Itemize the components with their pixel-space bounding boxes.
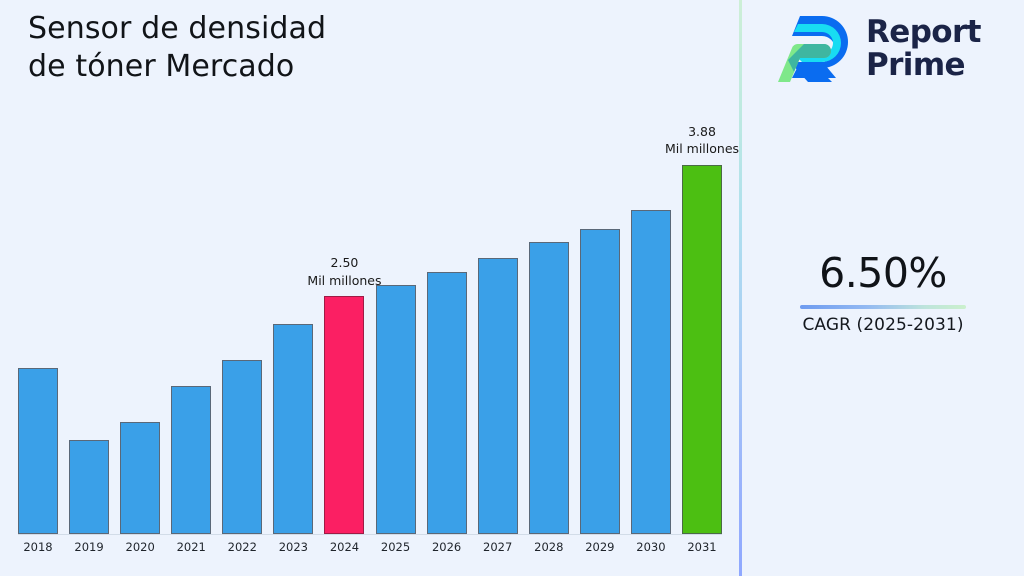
- chart-page: Sensor de densidad de tóner Mercado 2018…: [0, 0, 1024, 576]
- bar-2028[interactable]: [529, 242, 569, 534]
- cagr-value: 6.50%: [742, 252, 1024, 295]
- right-panel: Report Prime 6.50% CAGR (2025-2031): [742, 0, 1024, 576]
- bar-chart: 2018201920202021202220232024202520262027…: [0, 0, 739, 576]
- bar-2022[interactable]: [222, 360, 262, 534]
- brand-name: Report Prime: [866, 16, 981, 82]
- brand-logo: Report Prime: [778, 10, 981, 88]
- report-prime-logo-icon: [778, 10, 852, 88]
- bar-2018[interactable]: [18, 368, 58, 534]
- bar-2029[interactable]: [580, 229, 620, 534]
- bar-2026[interactable]: [427, 272, 467, 534]
- bar-2031[interactable]: [682, 165, 722, 534]
- bar-2021[interactable]: [171, 386, 211, 534]
- bar-2020[interactable]: [120, 422, 160, 534]
- plot-area: [18, 120, 722, 534]
- bar-2030[interactable]: [631, 210, 671, 534]
- x-tick-2031: 2031: [672, 540, 732, 554]
- bar-2019[interactable]: [69, 440, 109, 534]
- bar-2023[interactable]: [273, 324, 313, 534]
- bar-2024[interactable]: [324, 296, 364, 534]
- bar-2025[interactable]: [376, 285, 416, 534]
- cagr-caption: CAGR (2025-2031): [742, 315, 1024, 335]
- x-axis-line: [18, 534, 722, 535]
- bar-label-2024: 2.50 Mil millones: [269, 254, 419, 290]
- bar-2027[interactable]: [478, 258, 518, 534]
- cagr-block: 6.50% CAGR (2025-2031): [742, 252, 1024, 335]
- cagr-divider-rule: [800, 305, 966, 309]
